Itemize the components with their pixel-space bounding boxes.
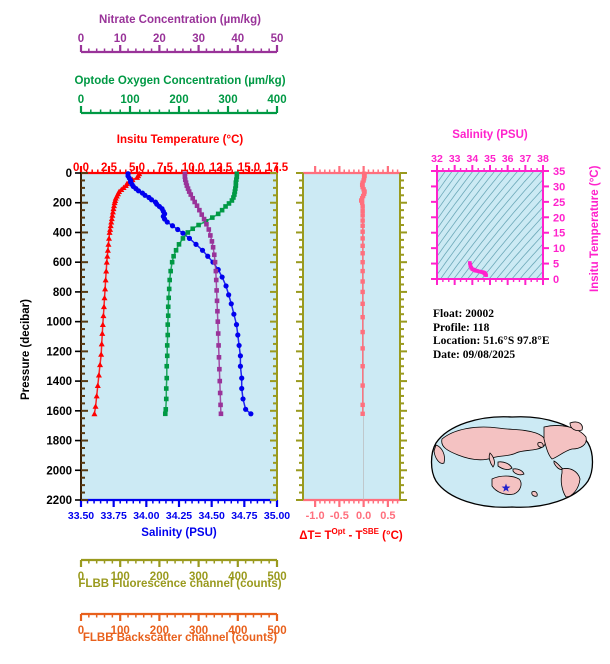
ts-diagram[interactable]: 3233343536373835302520151050 — [425, 145, 605, 305]
svg-text:5: 5 — [553, 259, 559, 271]
fluorescence-axis-title: FLBB Fluorescence channel (counts) — [0, 578, 360, 590]
svg-text:35.00: 35.00 — [264, 510, 290, 522]
main-profile-panel[interactable]: 33.5033.7534.0034.2534.5034.7535.0002004… — [0, 0, 300, 560]
svg-text:35: 35 — [553, 166, 565, 178]
delta-t-title-tail: (°C) — [379, 530, 403, 542]
svg-text:36: 36 — [502, 153, 514, 165]
svg-text:0: 0 — [553, 274, 559, 286]
backscatter-axis-title: FLBB Backscatter channel (counts) — [0, 632, 360, 644]
ts-temperature-axis-title: Insitu Temperature (°C) — [589, 166, 601, 292]
date-label: Date: 09/08/2025 — [433, 349, 550, 363]
svg-text:33: 33 — [449, 153, 461, 165]
svg-text:1600: 1600 — [46, 406, 72, 418]
svg-text:34.75: 34.75 — [231, 510, 257, 522]
svg-text:10: 10 — [553, 243, 565, 255]
svg-text:15: 15 — [553, 228, 565, 240]
delta-t-title-mid: - T — [345, 530, 362, 542]
svg-text:37: 37 — [519, 153, 531, 165]
delta-t-axis-title: ΔT= TOpt - TSBE (°C) — [296, 527, 406, 542]
backscatter-axis: 0100200300400500 — [0, 606, 360, 632]
svg-text:34.00: 34.00 — [133, 510, 159, 522]
svg-text:0: 0 — [66, 168, 72, 180]
svg-text:33.50: 33.50 — [68, 510, 94, 522]
delta-t-title-lead: ΔT= T — [299, 530, 331, 542]
delta-t-title-sup-sbe: SBE — [363, 527, 379, 536]
svg-text:0.5: 0.5 — [380, 510, 395, 522]
metadata-block: Float: 20002 Profile: 118 Location: 51.6… — [433, 308, 550, 362]
svg-text:25: 25 — [553, 197, 565, 209]
svg-text:-1.0: -1.0 — [306, 510, 325, 522]
svg-text:32: 32 — [431, 153, 443, 165]
svg-text:200: 200 — [53, 198, 72, 210]
ts-salinity-axis-title: Salinity (PSU) — [432, 129, 548, 141]
svg-text:34.50: 34.50 — [199, 510, 225, 522]
fluorescence-axis: 0100200300400500 — [0, 552, 360, 578]
delta-t-title-sup-opt: Opt — [331, 527, 345, 536]
svg-text:34: 34 — [466, 153, 478, 165]
location-label: Location: 51.6°S 97.8°E — [433, 335, 550, 349]
svg-text:600: 600 — [53, 257, 72, 269]
svg-text:2200: 2200 — [46, 495, 72, 507]
pressure-axis-title: Pressure (decibar) — [20, 299, 32, 400]
float-label: Float: 20002 — [433, 308, 550, 322]
svg-text:38: 38 — [537, 153, 549, 165]
svg-text:1400: 1400 — [46, 376, 72, 388]
salinity-axis-title: Salinity (PSU) — [80, 527, 278, 539]
svg-text:400: 400 — [53, 227, 72, 239]
svg-text:33.75: 33.75 — [101, 510, 127, 522]
svg-text:1800: 1800 — [46, 436, 72, 448]
svg-text:30: 30 — [553, 181, 565, 193]
svg-text:2000: 2000 — [46, 465, 72, 477]
delta-t-panel[interactable]: -1.0-0.50.00.5 — [290, 0, 420, 560]
svg-text:35: 35 — [484, 153, 496, 165]
svg-text:-0.5: -0.5 — [330, 510, 349, 522]
svg-text:0.0: 0.0 — [356, 510, 371, 522]
profile-label: Profile: 118 — [433, 322, 550, 336]
svg-text:34.25: 34.25 — [166, 510, 192, 522]
svg-text:1000: 1000 — [46, 317, 72, 329]
world-map[interactable] — [420, 405, 605, 520]
svg-text:20: 20 — [553, 212, 565, 224]
svg-text:800: 800 — [53, 287, 72, 299]
svg-text:1200: 1200 — [46, 346, 72, 358]
